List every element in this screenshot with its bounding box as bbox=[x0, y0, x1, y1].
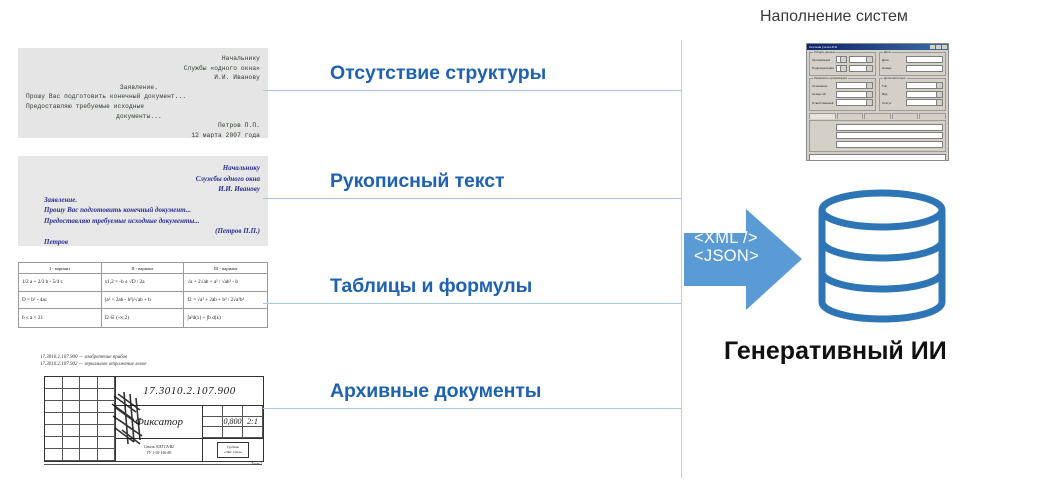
archive-note: 17.3010.2.107.900 — изобретение прибое 1… bbox=[40, 354, 146, 368]
category-label-tables-formulas: Таблицы и формулы bbox=[330, 275, 532, 298]
typed-line-8: Петров П.П. bbox=[18, 121, 260, 131]
dialog-group-details bbox=[809, 120, 946, 153]
dialog-field-label-status: Статус bbox=[882, 101, 904, 105]
formula-header-3: III - вариант bbox=[184, 263, 267, 274]
dialog-group-general-label: Общие данные bbox=[813, 50, 836, 54]
arrow-format-label: <XML /> <JSON> bbox=[694, 229, 759, 265]
archive-part-name: Фиксатор bbox=[116, 406, 203, 438]
connector-line-1 bbox=[263, 90, 681, 91]
document-thumb-handwritten-letter: Начальнику Службы одного окна И.И. Ивано… bbox=[18, 156, 268, 246]
right-column-title: Наполнение систем bbox=[760, 8, 908, 26]
formula-cell-r2c2: (a² + 2ab - b²)/√ab + b bbox=[102, 292, 185, 310]
formula-cell-r1c2: x1,2 = -b ± √D / 2a bbox=[102, 274, 185, 292]
archive-org-line-2: «ЭКС Сити» bbox=[224, 450, 242, 454]
typed-line-6: Предоставляю требуемые исходные bbox=[18, 102, 260, 112]
archive-main-block: 17.3010.2.107.900 Фиксатор 0,8002:1 Стал… bbox=[116, 377, 263, 461]
typed-line-1: Начальнику bbox=[18, 54, 260, 64]
dialog-field-dept-extra[interactable] bbox=[849, 65, 873, 72]
dialog-field-dept[interactable] bbox=[836, 65, 847, 72]
dialog-field-label-number: Номер bbox=[882, 66, 904, 70]
typed-line-9: 12 марта 2007 года bbox=[18, 131, 260, 138]
archive-material-line-2: ТУ 1-92-156-80 bbox=[147, 450, 172, 456]
minimize-icon[interactable] bbox=[930, 45, 935, 49]
archive-mass: 0,800 bbox=[223, 417, 243, 427]
hand-line-2: Службы одного окна bbox=[18, 174, 260, 185]
typed-line-5: Прошу Вас подготовить конечный документ.… bbox=[18, 92, 260, 102]
archive-revision-grid bbox=[45, 377, 116, 461]
dialog-group-general: Общие данные Организация Подразделение bbox=[809, 52, 876, 76]
archive-org-line-1: Турбина bbox=[227, 445, 239, 449]
hand-line-4: Заявление. bbox=[18, 195, 260, 206]
dialog-group-extra-label: Дополнительно bbox=[883, 76, 907, 80]
hand-line-3: И.И. Иванову bbox=[18, 184, 260, 195]
dialog-field-org[interactable] bbox=[836, 56, 847, 63]
archive-sheet-mark: Лист 1 bbox=[251, 462, 262, 466]
connector-line-2 bbox=[263, 198, 681, 199]
dialog-field-type[interactable] bbox=[906, 82, 943, 89]
formula-cell-r3c1: 6 ≤ a < 21 bbox=[19, 309, 102, 327]
dialog-tab-strip bbox=[809, 113, 946, 119]
dialog-field-resp[interactable] bbox=[836, 99, 873, 106]
formula-header-1: I - вариант bbox=[19, 263, 102, 274]
formula-header-2: II - вариант bbox=[102, 263, 185, 274]
dialog-group-requisites-label: Реквизиты организации bbox=[813, 76, 848, 80]
dialog-field-label-kind: Вид bbox=[882, 92, 904, 96]
hand-line-1: Начальнику bbox=[18, 163, 260, 174]
formula-cell-r2c1: D = b² - 4ac bbox=[19, 292, 102, 310]
typed-line-2: Службы «одного окна» bbox=[18, 64, 260, 74]
formula-cell-r2c3: f2 = √a² + 2ab + b² / 2√a²b² bbox=[184, 292, 267, 310]
dialog-group-dates-label: Дата bbox=[883, 50, 892, 54]
archive-org-stamp: Турбина «ЭКС Сити» bbox=[217, 442, 249, 458]
document-thumb-typed-letter: Начальнику Службы «одного окна» И.И. Ива… bbox=[18, 48, 268, 138]
category-label-no-structure: Отсутствие структуры bbox=[330, 62, 546, 85]
tab-dokumenty[interactable] bbox=[864, 113, 891, 119]
dialog-detail-field-1[interactable] bbox=[836, 124, 943, 131]
category-label-archive-docs: Архивные документы bbox=[330, 380, 541, 403]
dialog-field-label-dept: Подразделение bbox=[812, 66, 834, 70]
tab-obshchee[interactable] bbox=[809, 113, 836, 119]
dialog-field-kind[interactable] bbox=[906, 91, 943, 98]
hand-line-7: (Петров П.П.) bbox=[18, 226, 260, 237]
close-icon[interactable] bbox=[942, 45, 947, 49]
arrow-label-xml: <XML /> bbox=[694, 229, 758, 247]
typed-line-3: И.И. Иванову bbox=[18, 73, 260, 83]
dialog-field-status[interactable] bbox=[906, 99, 943, 106]
dialog-group-dates: Дата Дата Номер bbox=[879, 52, 946, 76]
dialog-field-basis[interactable] bbox=[836, 82, 873, 89]
formula-cell-r3c3: ∫a²d(x) + ∫b d(x) bbox=[184, 309, 267, 327]
dialog-field-label-seq: Номер п/п bbox=[812, 92, 834, 96]
dialog-group-extra: Дополнительно Тип Вид Статус bbox=[879, 78, 946, 111]
dialog-field-label-org: Организация bbox=[812, 58, 834, 62]
archive-material: Сталь 30ХГСА-В2 ТУ 1-92-156-80 bbox=[116, 439, 203, 461]
slide-canvas: Начальнику Службы «одного окна» И.И. Ива… bbox=[0, 0, 1037, 483]
archive-drawing-code: 17.3010.2.107.900 bbox=[116, 377, 263, 406]
dialog-detail-field-3[interactable] bbox=[836, 141, 943, 148]
generative-ai-title: Генеративный ИИ bbox=[724, 337, 947, 366]
dialog-detail-field-2[interactable] bbox=[836, 132, 943, 139]
typed-line-7: документы... bbox=[18, 112, 260, 122]
dialog-field-label-basis: Основание bbox=[812, 84, 834, 88]
legacy-system-dialog-screenshot: Система учета НСИ Общие данные Организац… bbox=[806, 43, 949, 161]
dialog-body: Общие данные Организация Подразделение Д… bbox=[807, 50, 948, 161]
dialog-field-label-type: Тип bbox=[882, 84, 904, 88]
dialog-field-org-extra[interactable] bbox=[849, 56, 873, 63]
dialog-window-buttons bbox=[930, 45, 947, 49]
dialog-title: Система учета НСИ bbox=[808, 45, 837, 49]
maximize-icon[interactable] bbox=[936, 45, 941, 49]
dialog-field-label-resp: Ответственный bbox=[812, 101, 834, 105]
database-cylinder-icon bbox=[812, 188, 952, 324]
vertical-divider-line bbox=[681, 40, 682, 478]
typed-line-4: Заявление. bbox=[18, 83, 260, 93]
formula-cell-r3c2: f2 ∈ (-∞;2) bbox=[102, 309, 185, 327]
arrow-label-json: <JSON> bbox=[694, 247, 759, 265]
tab-oborudovanie[interactable] bbox=[892, 113, 919, 119]
hand-line-5: Прошу Вас подготовить конечный документ.… bbox=[18, 205, 260, 216]
archive-title-block: 17.3010.2.107.900 Фиксатор 0,8002:1 Стал… bbox=[44, 376, 264, 462]
tab-harakteristiki[interactable] bbox=[837, 113, 864, 119]
tab-svedeniya[interactable] bbox=[919, 113, 946, 119]
category-label-handwritten: Рукописный текст bbox=[330, 170, 504, 193]
dialog-field-number[interactable] bbox=[906, 65, 943, 72]
archive-mass-scale: 0,8002:1 bbox=[203, 406, 263, 438]
archive-note-line-2: 17.3010.2.107.902 — зеркальное отражение… bbox=[40, 362, 146, 367]
dialog-comment-box[interactable] bbox=[809, 154, 946, 161]
formula-cell-r1c3: √a + 2√ab + a² / √ab² - b bbox=[184, 274, 267, 292]
document-thumb-formula-table: I - вариант II - вариант III - вариант 1… bbox=[18, 262, 268, 328]
dialog-group-requisites: Реквизиты организации Основание Номер п/… bbox=[809, 78, 876, 111]
connector-line-3 bbox=[263, 303, 681, 304]
hand-line-6: Предоставляю требуемые исходные документ… bbox=[18, 216, 260, 227]
dialog-field-date[interactable] bbox=[906, 56, 943, 63]
archive-note-line-1: 17.3010.2.107.900 — изобретение прибое bbox=[40, 355, 127, 360]
connector-line-4 bbox=[263, 408, 681, 409]
archive-scale: 2:1 bbox=[243, 417, 263, 427]
hand-line-8: Петров bbox=[18, 237, 260, 247]
dialog-field-seq[interactable] bbox=[836, 91, 873, 98]
dialog-field-label-date: Дата bbox=[882, 58, 904, 62]
archive-baseline bbox=[44, 464, 262, 465]
document-thumb-archive-drawing: 17.3010.2.107.900 — изобретение прибое 1… bbox=[18, 352, 270, 472]
formula-cell-r1c1: 1/2 a + 2/3 b - 5/4 c bbox=[19, 274, 102, 292]
